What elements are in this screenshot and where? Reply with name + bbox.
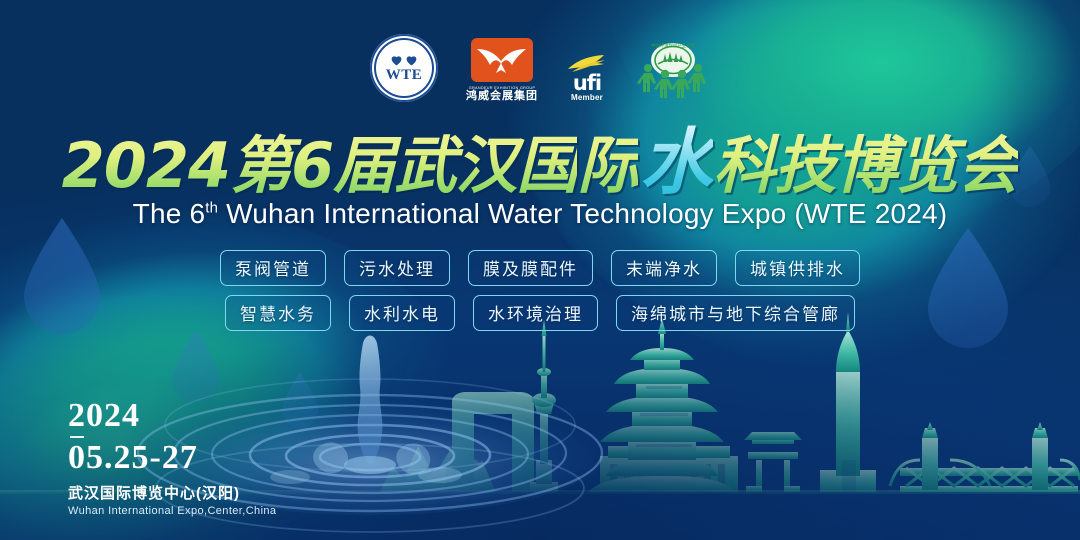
topic-tag[interactable]: 海绵城市与地下综合管廊 (616, 295, 855, 331)
grandeur-exhibition-group-logo: GRANDEUR EXHIBITION GROUP 鸿威会展集团 (466, 38, 538, 102)
event-dates: 05.25-27 (68, 440, 276, 476)
topic-tag[interactable]: 水利水电 (349, 295, 455, 331)
topic-tag-row-2: 智慧水务 水利水电 水环境治理 海绵城市与地下综合管廊 (225, 295, 855, 331)
event-year: 2024 (68, 398, 276, 434)
date-divider (70, 436, 84, 438)
event-venue-en: Wuhan International Expo,Center,China (68, 505, 276, 517)
two-hearts-icon (390, 54, 418, 67)
topic-tag[interactable]: 泵阀管道 (220, 250, 326, 286)
topic-tag-row-1: 泵阀管道 污水处理 膜及膜配件 末端净水 城镇供排水 (220, 250, 860, 286)
green-figures-globe-icon: 中国环境保护产业协会 (636, 38, 710, 102)
topic-tag[interactable]: 水环境治理 (473, 295, 598, 331)
title-cn-part2: 际 (577, 129, 638, 202)
svg-text:中国环境保护产业协会: 中国环境保护产业协会 (651, 42, 696, 49)
event-venue-cn: 武汉国际博览中心(汉阳) (68, 482, 276, 503)
title-cn-part3: 科技博览会 (713, 129, 1018, 202)
topic-tag[interactable]: 智慧水务 (225, 295, 331, 331)
title-en-prefix: The 6 (133, 198, 206, 229)
topic-tag[interactable]: 膜及膜配件 (468, 250, 593, 286)
ufi-wing-icon (566, 53, 608, 73)
ufi-member-logo: ufi Member (566, 53, 608, 102)
ufi-logo-text: ufi (573, 74, 601, 93)
page-title-cn: 2024第6届武汉国际水科技博览会 (0, 126, 1080, 198)
page-title-en: The 6th Wuhan International Water Techno… (0, 198, 1080, 230)
grandeur-logo-en: GRANDEUR EXHIBITION GROUP (469, 85, 535, 90)
topic-tag[interactable]: 城镇供排水 (735, 250, 860, 286)
green-association-logo: 中国环境保护产业协会 (636, 38, 710, 102)
wte-logo-text: WTE (386, 68, 423, 83)
topic-tag[interactable]: 末端净水 (611, 250, 717, 286)
wte-logo: WTE (370, 34, 438, 102)
title-en-rest: Wuhan International Water Technology Exp… (218, 198, 947, 229)
topic-tag-list: 泵阀管道 污水处理 膜及膜配件 末端净水 城镇供排水 智慧水务 水利水电 水环境… (0, 250, 1080, 331)
ufi-member-label: Member (571, 94, 603, 102)
title-cn-water-glyph: 水 (638, 120, 713, 204)
wte-logo-circle: WTE (370, 34, 438, 102)
w-wings-icon (471, 38, 533, 82)
expo-banner: WTE GRANDEUR EXHIBITION GROUP 鸿威会展集团 ufi… (0, 0, 1080, 540)
title-en-ordinal: th (205, 200, 218, 217)
sponsor-logo-row: WTE GRANDEUR EXHIBITION GROUP 鸿威会展集团 ufi… (0, 34, 1080, 102)
grandeur-logo-cn: 鸿威会展集团 (466, 90, 538, 102)
event-date-venue-block: 2024 05.25-27 武汉国际博览中心(汉阳) Wuhan Interna… (68, 398, 276, 517)
topic-tag[interactable]: 污水处理 (344, 250, 450, 286)
title-cn-part1: 2024第6届武汉国 (62, 129, 578, 202)
